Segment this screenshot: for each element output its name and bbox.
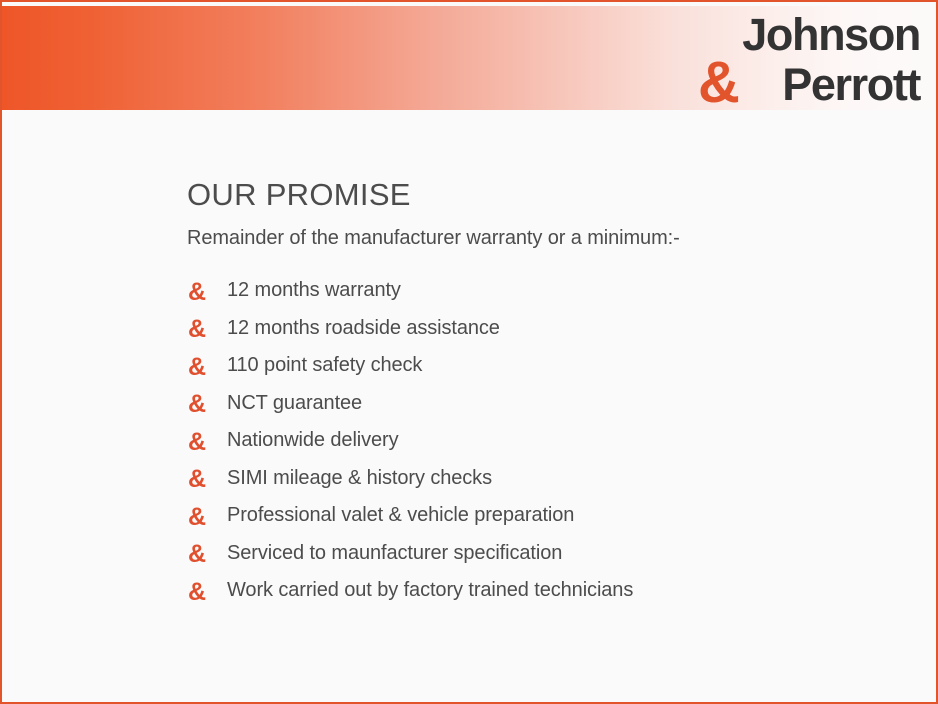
ampersand-bullet-icon: & bbox=[187, 466, 211, 490]
ampersand-bullet-icon: & bbox=[187, 504, 211, 528]
svg-text:&: & bbox=[188, 279, 206, 303]
logo-ampersand-icon: & bbox=[698, 50, 740, 112]
list-item: &Nationwide delivery bbox=[187, 422, 916, 460]
promise-item-label: Professional valet & vehicle preparation bbox=[227, 504, 574, 527]
promise-item-label: 12 months roadside assistance bbox=[227, 317, 500, 340]
list-item: &SIMI mileage & history checks bbox=[187, 460, 916, 498]
johnson-and-perrott-logo: Johnson & Perrott bbox=[692, 4, 922, 112]
list-item: &NCT guarantee bbox=[187, 385, 916, 423]
list-item: &12 months warranty bbox=[187, 272, 916, 310]
svg-text:&: & bbox=[188, 354, 206, 378]
promise-item-label: 12 months warranty bbox=[227, 279, 401, 302]
ampersand-bullet-icon: & bbox=[187, 541, 211, 565]
promise-item-label: Serviced to maunfacturer specification bbox=[227, 542, 562, 565]
promise-page: Johnson & Perrott OUR PROMISE Remainder … bbox=[0, 0, 938, 704]
ampersand-bullet-icon: & bbox=[187, 391, 211, 415]
svg-text:&: & bbox=[188, 579, 206, 603]
svg-text:&: & bbox=[188, 316, 206, 340]
svg-text:&: & bbox=[188, 504, 206, 528]
page-title: OUR PROMISE bbox=[187, 178, 916, 212]
list-item: &Work carried out by factory trained tec… bbox=[187, 572, 916, 610]
ampersand-bullet-icon: & bbox=[187, 354, 211, 378]
promise-list: &12 months warranty&12 months roadside a… bbox=[187, 272, 916, 610]
ampersand-bullet-icon: & bbox=[187, 279, 211, 303]
list-item: &110 point safety check bbox=[187, 347, 916, 385]
promise-item-label: SIMI mileage & history checks bbox=[227, 467, 492, 490]
ampersand-bullet-icon: & bbox=[187, 429, 211, 453]
promise-item-label: NCT guarantee bbox=[227, 392, 362, 415]
ampersand-bullet-icon: & bbox=[187, 316, 211, 340]
page-subtitle: Remainder of the manufacturer warranty o… bbox=[187, 226, 916, 250]
list-item: &Professional valet & vehicle preparatio… bbox=[187, 497, 916, 535]
svg-text:&: & bbox=[188, 466, 206, 490]
list-item: &Serviced to maunfacturer specification bbox=[187, 535, 916, 573]
svg-text:&: & bbox=[188, 429, 206, 453]
list-item: &12 months roadside assistance bbox=[187, 310, 916, 348]
svg-text:&: & bbox=[188, 391, 206, 415]
promise-item-label: 110 point safety check bbox=[227, 354, 422, 377]
ampersand-bullet-icon: & bbox=[187, 579, 211, 603]
logo-text-johnson: Johnson bbox=[742, 9, 920, 60]
promise-item-label: Work carried out by factory trained tech… bbox=[227, 579, 633, 602]
svg-text:&: & bbox=[188, 541, 206, 565]
logo-text-perrott: Perrott bbox=[782, 59, 921, 110]
promise-item-label: Nationwide delivery bbox=[227, 429, 399, 452]
promise-content: OUR PROMISE Remainder of the manufacture… bbox=[187, 178, 916, 610]
